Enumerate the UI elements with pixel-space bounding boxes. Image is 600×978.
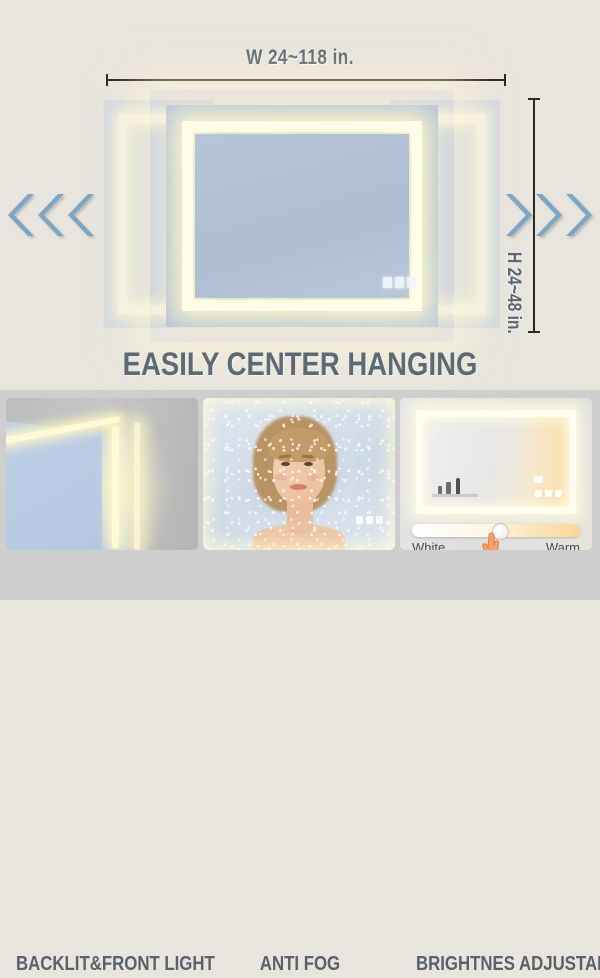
mirror-touch-controls[interactable]: [383, 277, 416, 288]
touch-button-2[interactable]: [395, 277, 404, 288]
top-section: W 24~118 in.: [0, 0, 600, 390]
dimension-cap-bottom: [528, 331, 540, 333]
dimension-bar-horizontal: [106, 79, 506, 81]
pointing-hand-icon: [482, 532, 502, 550]
height-dimension-label: H 24~48 in.: [502, 252, 524, 334]
anti-fog-touch-controls[interactable]: [356, 516, 383, 524]
mirror-glass-surface: [195, 134, 409, 298]
touch-button-1[interactable]: [383, 277, 392, 288]
panel-brightness-adjustable: White Warm: [400, 398, 592, 550]
chevron-left-icon: [38, 192, 68, 238]
touch-button-3[interactable]: [407, 277, 416, 288]
dimension-bar-vertical: [533, 98, 535, 333]
touch-button-3[interactable]: [376, 516, 383, 524]
defogged-area: [225, 412, 355, 530]
backlight-strip: [134, 422, 140, 550]
main-headline: EASILY CENTER HANGING: [42, 346, 558, 383]
feature-panels-section: White Warm BACKLIT&FRONT LIGHT ANTI FOG …: [0, 390, 600, 600]
panel-caption-backlit: BACKLIT&FRONT LIGHT: [16, 950, 184, 978]
slider-label-white: White: [412, 540, 445, 550]
chevron-group-left: [8, 192, 98, 238]
panel-anti-fog: [203, 398, 395, 550]
touch-button-1[interactable]: [356, 516, 363, 524]
slider-label-warm: Warm: [546, 540, 580, 550]
infographic-root: W 24~118 in.: [0, 0, 600, 600]
chevron-left-icon: [68, 192, 98, 238]
led-frame: [416, 410, 576, 514]
chevron-group-right: [502, 192, 592, 238]
panel-caption-brightness: BRIGHTNES ADJUSTABLE: [416, 950, 584, 978]
horizontal-dimension-line: [106, 74, 506, 86]
width-dimension-label: W 24~118 in.: [54, 46, 546, 70]
chevron-right-icon: [562, 192, 592, 238]
dimension-cap-right: [504, 74, 506, 86]
panel-backlit-front-light: [6, 398, 198, 550]
front-light-strip-side: [112, 426, 119, 548]
vertical-dimension-line: [528, 98, 540, 333]
touch-button-2[interactable]: [366, 516, 373, 524]
panel-caption-anti-fog: ANTI FOG: [216, 950, 384, 978]
main-mirror: [166, 105, 438, 327]
chevron-left-icon: [8, 192, 38, 238]
